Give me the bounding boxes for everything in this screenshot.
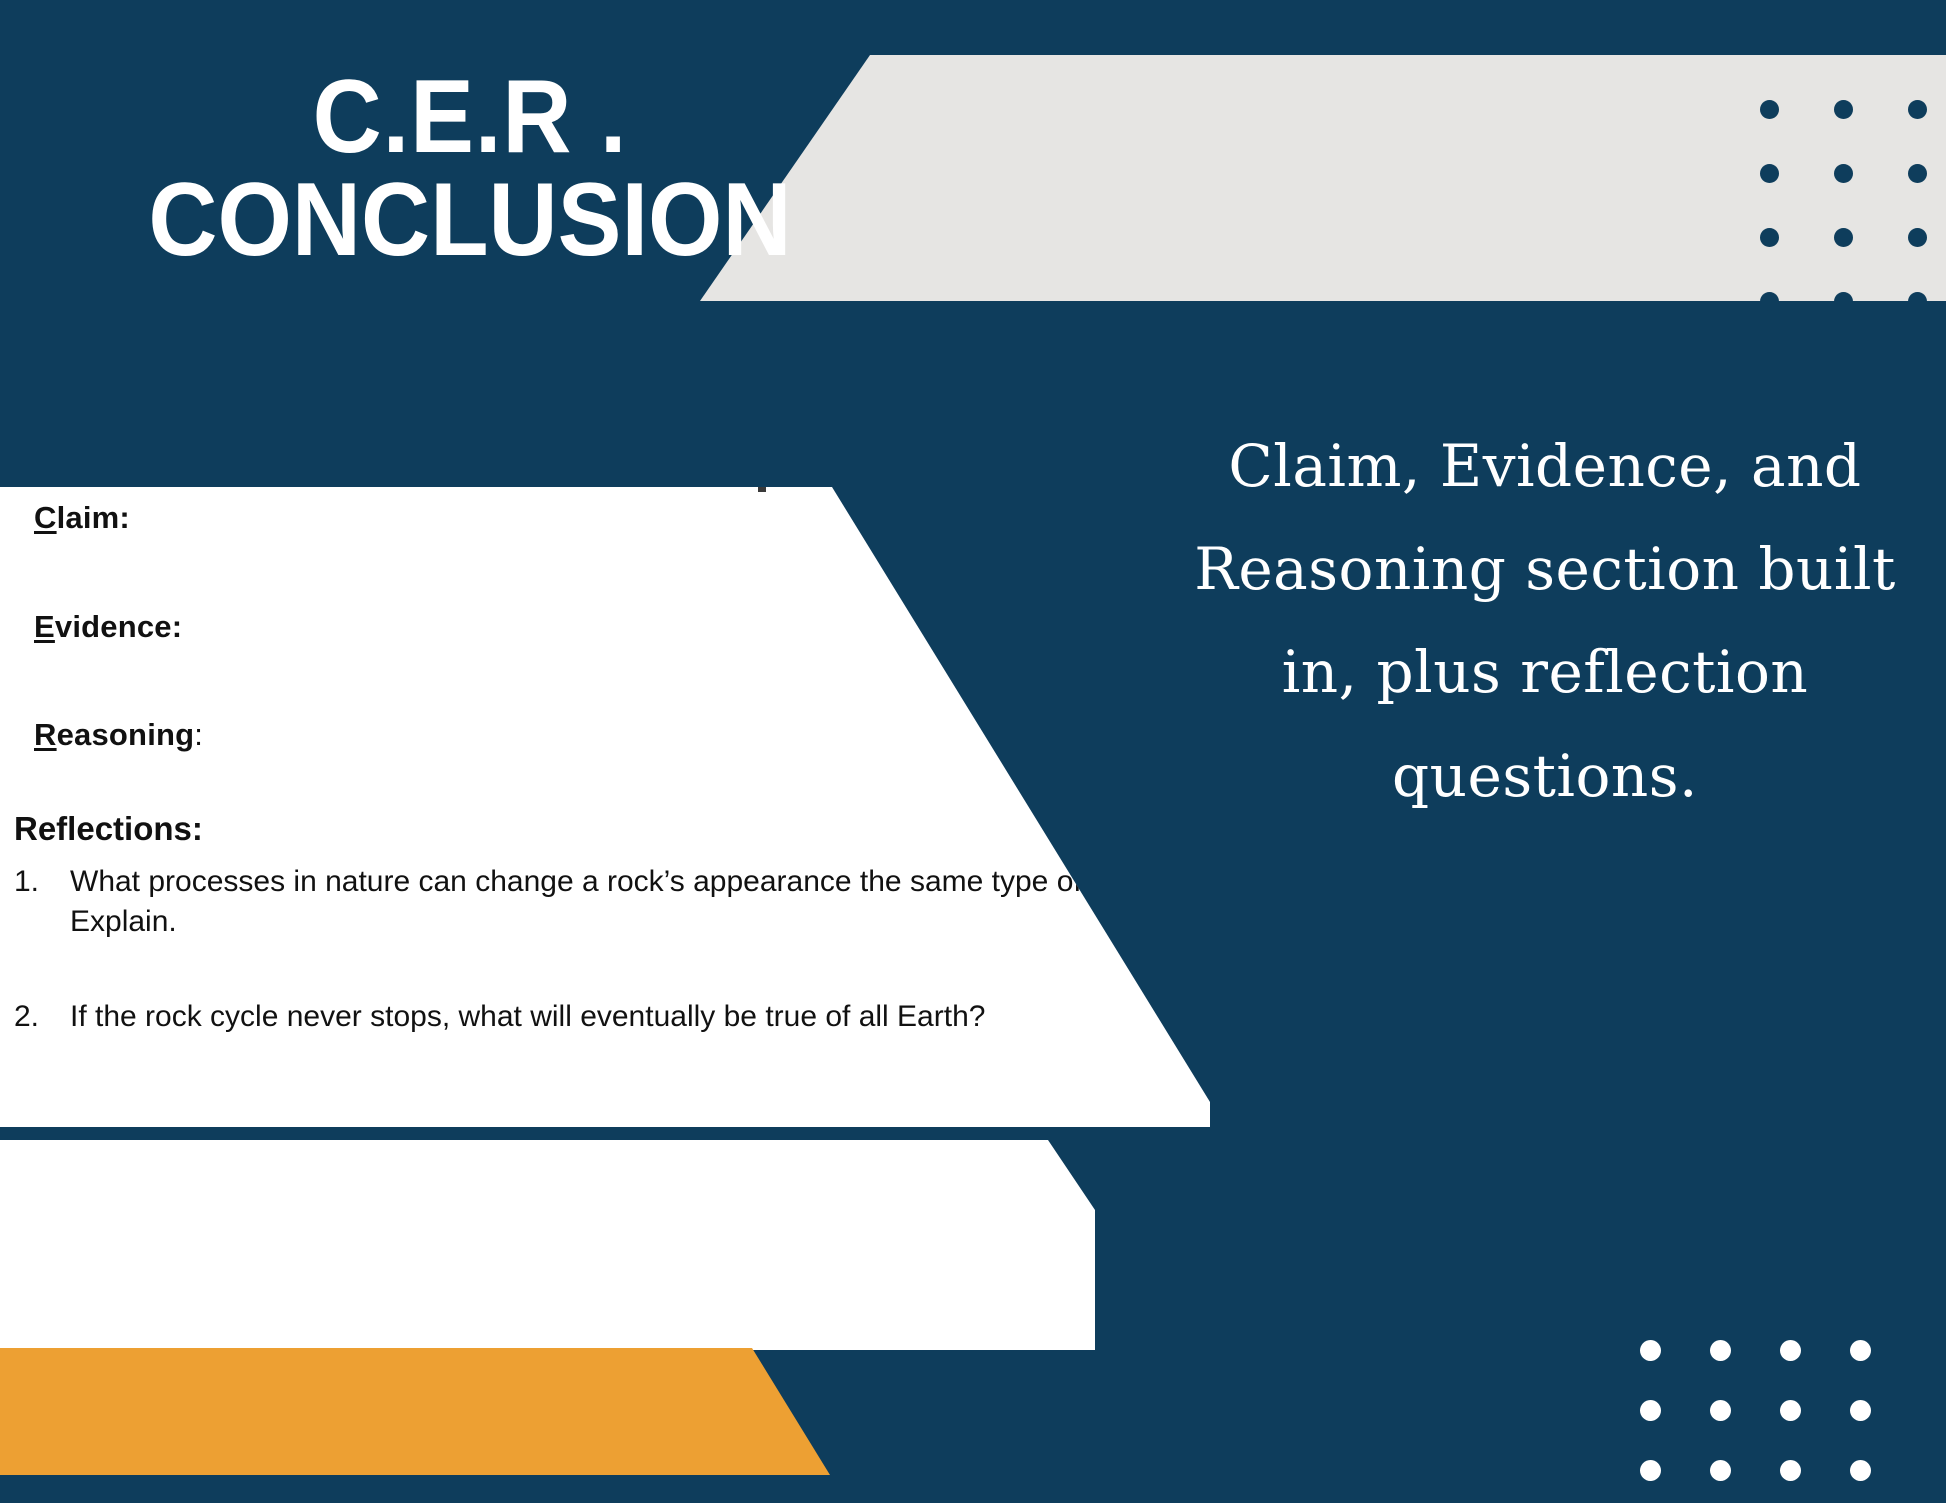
dot (1760, 228, 1779, 247)
dot (1640, 1340, 1661, 1361)
dot (1780, 1460, 1801, 1481)
dot (1908, 292, 1927, 311)
worksheet-panel-lower (0, 1140, 1095, 1350)
slide-canvas: C.E.R . CONCLUSION Claim: Evidence: Reas… (0, 0, 1946, 1503)
dot (1760, 100, 1779, 119)
dot (1834, 228, 1853, 247)
evidence-underlined-letter: E (34, 609, 55, 644)
reasoning-rest: easoning (57, 717, 195, 752)
reasoning-colon: : (194, 717, 203, 752)
reflection-item-text: What processes in nature can change a ro… (70, 862, 1170, 942)
dot (1834, 292, 1853, 311)
reflection-item-text: If the rock cycle never stops, what will… (70, 997, 1170, 1037)
title-line-1: C.E.R . (38, 68, 903, 167)
worksheet-label-reasoning: Reasoning: (34, 717, 203, 753)
reflection-item: 1.What processes in nature can change a … (14, 862, 1204, 942)
claim-underlined-letter: C (34, 500, 57, 535)
slide-caption: Claim, Evidence, and Reasoning section b… (1185, 415, 1905, 828)
reflections-heading: Reflections: (14, 810, 203, 848)
dot (1640, 1460, 1661, 1481)
slide-title: C.E.R . CONCLUSION (0, 68, 940, 270)
dot (1710, 1340, 1731, 1361)
dot (1760, 164, 1779, 183)
worksheet-label-claim: Claim: (34, 500, 130, 536)
dot (1850, 1400, 1871, 1421)
reflection-item-number: 2. (14, 997, 70, 1037)
dot (1710, 1400, 1731, 1421)
orange-accent-band (0, 1348, 830, 1475)
dot (1908, 100, 1927, 119)
dot (1834, 164, 1853, 183)
dot (1850, 1460, 1871, 1481)
dot (1850, 1340, 1871, 1361)
dot (1908, 228, 1927, 247)
top-right-dot-grid (1760, 100, 1946, 356)
claim-rest: laim: (57, 500, 130, 535)
dot (1834, 100, 1853, 119)
clipped-text-fragment (758, 487, 766, 492)
reasoning-underlined-letter: R (34, 717, 57, 752)
bottom-right-dot-grid (1640, 1340, 1920, 1503)
dot (1760, 292, 1779, 311)
dot (1780, 1400, 1801, 1421)
evidence-rest: vidence: (55, 609, 182, 644)
reflection-item-number: 1. (14, 862, 70, 902)
worksheet-label-evidence: Evidence: (34, 609, 182, 645)
dot (1640, 1400, 1661, 1421)
dot (1780, 1340, 1801, 1361)
reflection-item: 2.If the rock cycle never stops, what wi… (14, 997, 1204, 1037)
dot (1710, 1460, 1731, 1481)
dot (1908, 164, 1927, 183)
title-line-2: CONCLUSION (38, 171, 903, 270)
